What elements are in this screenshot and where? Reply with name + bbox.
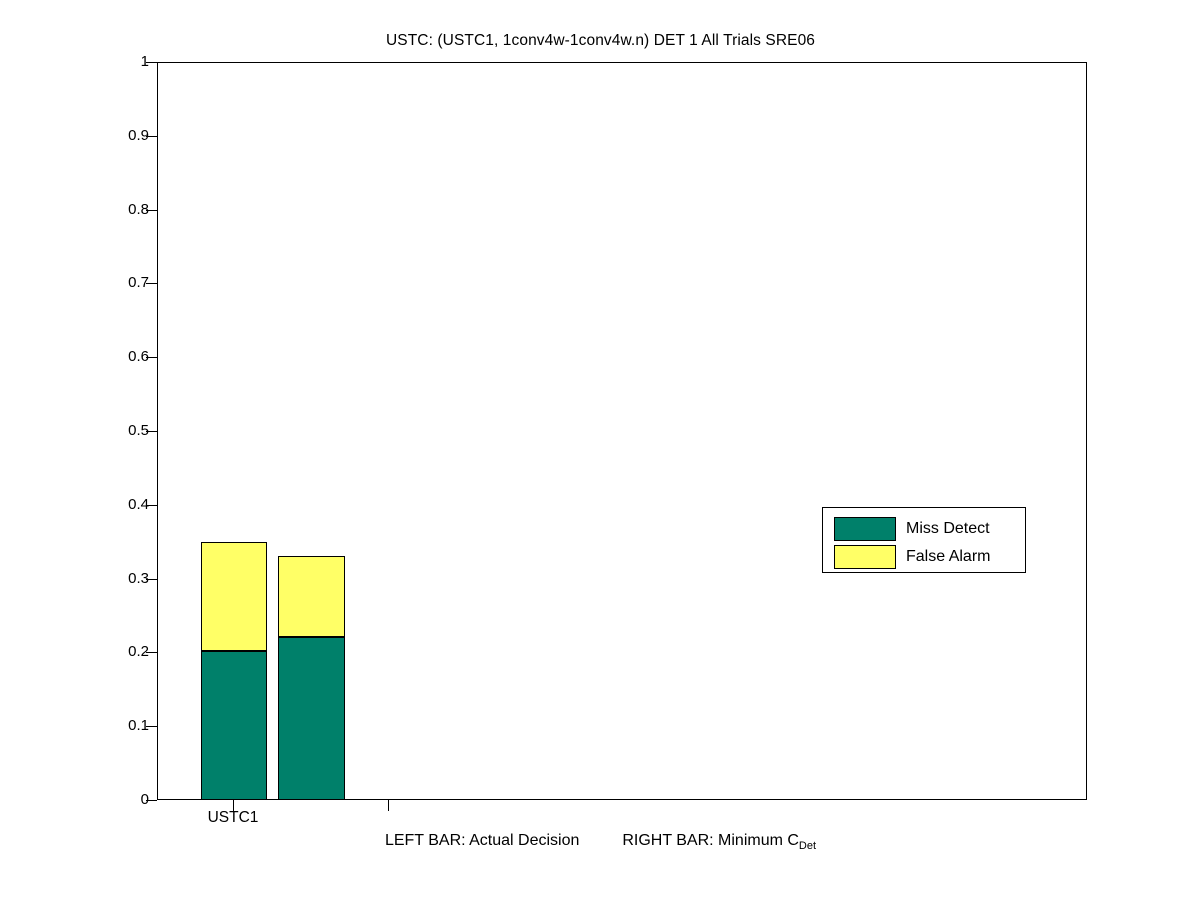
- chart-figure: USTC: (USTC1, 1conv4w-1conv4w.n) DET 1 A…: [0, 0, 1201, 900]
- x-axis-label-right: RIGHT BAR: Minimum CDet: [622, 832, 816, 849]
- x-tick-mark: [388, 800, 389, 811]
- x-tick-label: USTC1: [153, 809, 313, 827]
- chart-legend: Miss Detect False Alarm: [822, 507, 1026, 573]
- y-tick-label: 0: [96, 792, 149, 807]
- bar-actual-decision: [201, 542, 267, 800]
- x-axis-label: LEFT BAR: Actual Decision RIGHT BAR: Min…: [0, 832, 1201, 850]
- legend-label-false-alarm: False Alarm: [906, 546, 990, 568]
- y-tick-label: 0.5: [96, 423, 149, 438]
- legend-item-false-alarm: False Alarm: [834, 545, 1018, 569]
- y-tick-label: 0.6: [96, 349, 149, 364]
- legend-label-miss-detect: Miss Detect: [906, 518, 990, 540]
- x-axis-label-left: LEFT BAR: Actual Decision: [385, 832, 579, 849]
- bar-minimum-cdet: [278, 556, 345, 800]
- legend-swatch-miss-detect: [834, 517, 896, 541]
- y-tick-label: 0.1: [96, 718, 149, 733]
- bar-segment-false-alarm: [278, 556, 345, 637]
- x-axis-label-right-subscript: Det: [799, 840, 816, 852]
- y-tick-label: 0.8: [96, 202, 149, 217]
- x-axis-label-right-prefix: RIGHT BAR: Minimum C: [622, 832, 799, 849]
- legend-swatch-false-alarm: [834, 545, 896, 569]
- bar-segment-false-alarm: [201, 542, 267, 651]
- y-tick-label: 0.2: [96, 644, 149, 659]
- y-tick-label: 0.7: [96, 275, 149, 290]
- y-tick-label: 1: [96, 54, 149, 69]
- legend-item-miss-detect: Miss Detect: [834, 517, 1018, 541]
- bar-segment-miss-detect: [278, 637, 345, 800]
- bar-segment-miss-detect: [201, 651, 267, 800]
- y-tick-label: 0.9: [96, 128, 149, 143]
- chart-title: USTC: (USTC1, 1conv4w-1conv4w.n) DET 1 A…: [0, 32, 1201, 50]
- y-tick-label: 0.3: [96, 571, 149, 586]
- y-tick-label: 0.4: [96, 497, 149, 512]
